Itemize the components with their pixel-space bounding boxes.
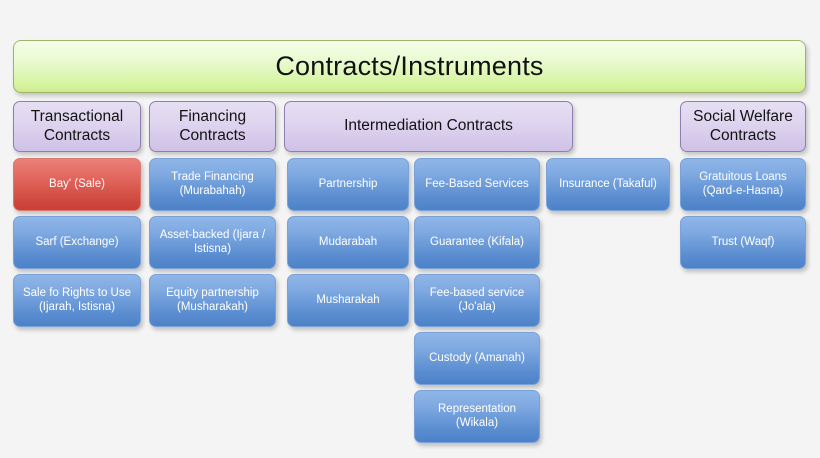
leaf-equity-partnership-musharakah: Equity partnership (Musharakah) <box>149 274 276 327</box>
root-node-contracts-instruments: Contracts/Instruments <box>13 40 806 93</box>
leaf-asset-backed-ijara-istisna: Asset-backed (Ijara / Istisna) <box>149 216 276 269</box>
leaf-trust-waqf: Trust (Waqf) <box>680 216 806 269</box>
leaf-sale-of-rights-to-use: Sale fo Rights to Use (Ijarah, Istisna) <box>13 274 141 327</box>
leaf-insurance-takaful: Insurance (Takaful) <box>546 158 670 211</box>
category-transactional-contracts: Transactional Contracts <box>13 101 141 152</box>
leaf-musharakah: Musharakah <box>287 274 409 327</box>
leaf-guarantee-kifala: Guarantee (Kifala) <box>414 216 540 269</box>
category-social-welfare-contracts: Social Welfare Contracts <box>680 101 806 152</box>
category-intermediation-contracts: Intermediation Contracts <box>284 101 573 152</box>
leaf-bay-sale: Bay' (Sale) <box>13 158 141 211</box>
leaf-representation-wikala: Representation (Wikala) <box>414 390 540 443</box>
leaf-partnership: Partnership <box>287 158 409 211</box>
leaf-trade-financing-murabahah: Trade Financing (Murabahah) <box>149 158 276 211</box>
leaf-fee-based-service-joala: Fee-based service (Jo'ala) <box>414 274 540 327</box>
category-financing-contracts: Financing Contracts <box>149 101 276 152</box>
leaf-sarf-exchange: Sarf (Exchange) <box>13 216 141 269</box>
contracts-instruments-diagram: Contracts/Instruments Transactional Cont… <box>0 0 820 458</box>
leaf-mudarabah: Mudarabah <box>287 216 409 269</box>
leaf-custody-amanah: Custody (Amanah) <box>414 332 540 385</box>
leaf-fee-based-services: Fee-Based Services <box>414 158 540 211</box>
leaf-gratuitous-loans-qard-e-hasna: Gratuitous Loans (Qard-e-Hasna) <box>680 158 806 211</box>
